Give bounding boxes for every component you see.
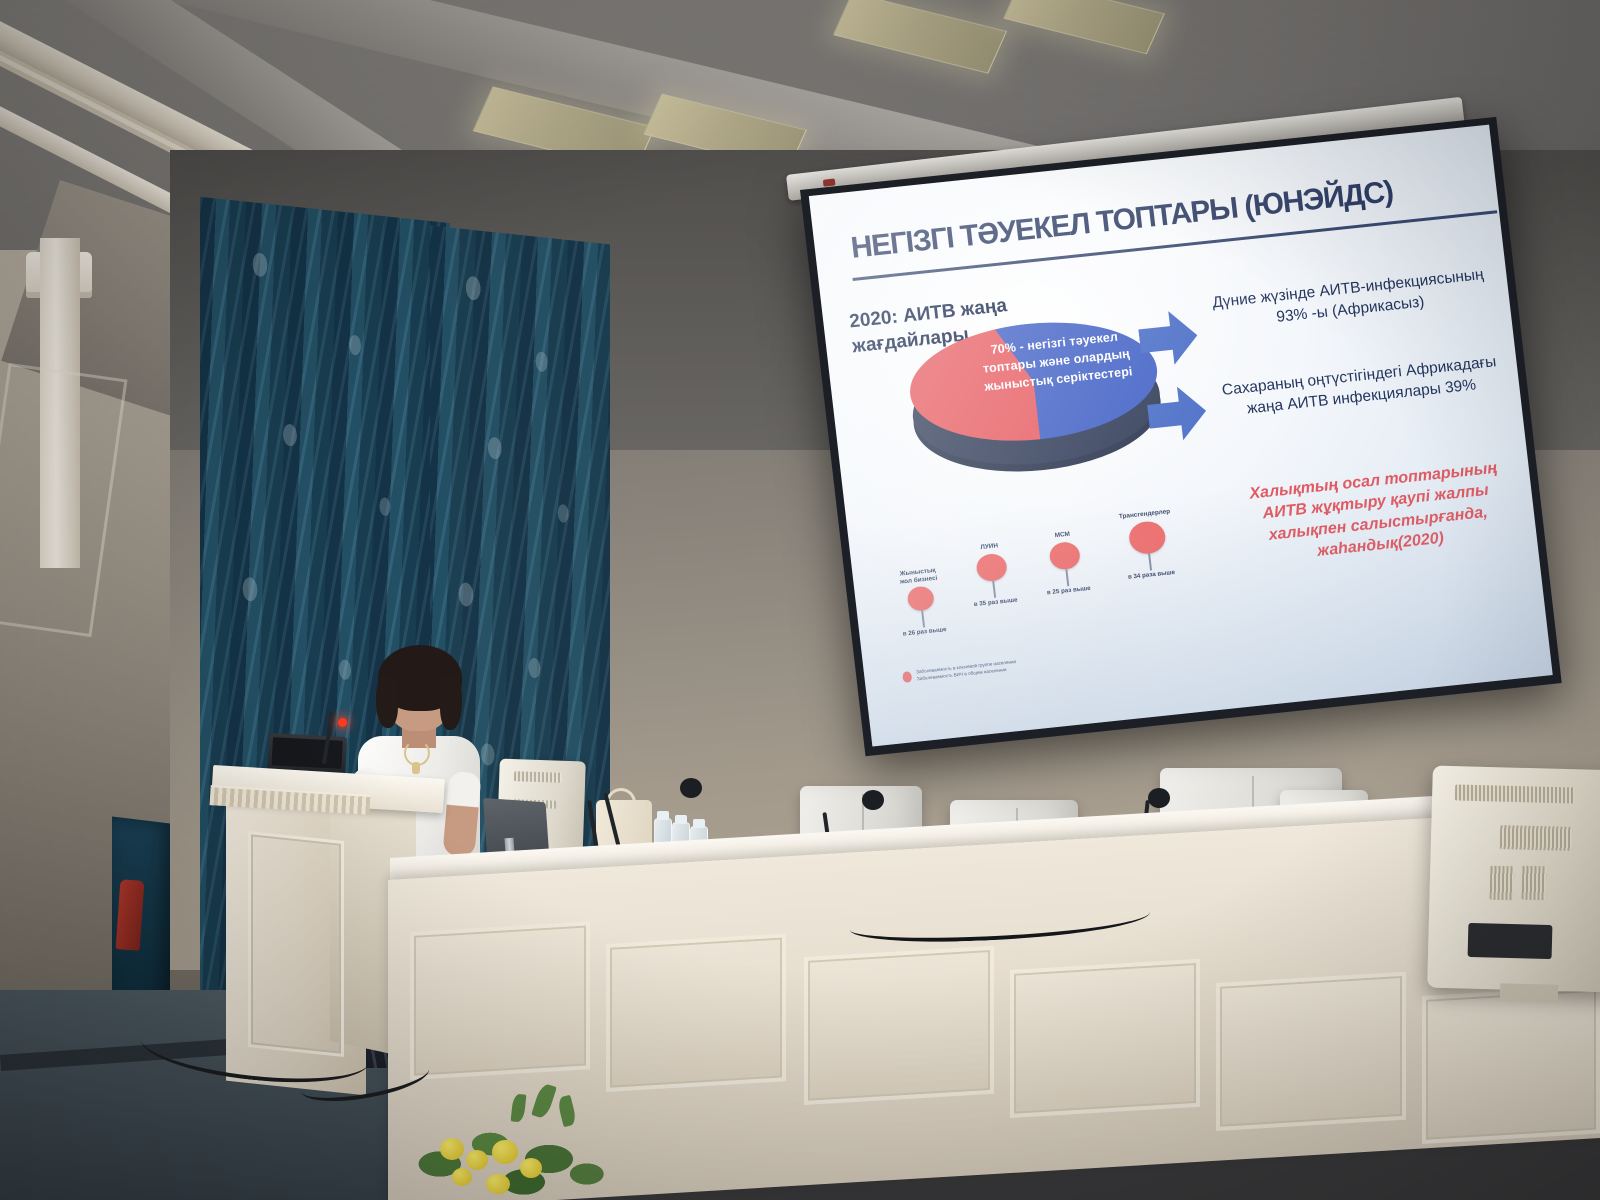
monitor-vent	[514, 771, 562, 783]
monitor-vent	[1490, 866, 1515, 901]
monitor-port-bay	[1468, 923, 1553, 959]
yellow-flower	[520, 1158, 542, 1178]
risk-group-stem	[1066, 569, 1069, 586]
legend-marker-icon	[902, 671, 912, 683]
fire-extinguisher	[116, 879, 145, 951]
yellow-flower	[452, 1168, 472, 1186]
table-panel	[1422, 985, 1600, 1144]
microphone-head	[862, 790, 884, 810]
slide-title: НЕГІЗГІ ТӘУЕКЕЛ ТОПТАРЫ (ЮНЭЙДС)	[849, 165, 1489, 266]
projection-screen-surface: НЕГІЗГІ ТӘУЕКЕЛ ТОПТАРЫ (ЮНЭЙДС) 2020: А…	[809, 125, 1553, 747]
table-panel	[804, 946, 994, 1105]
yellow-flower	[466, 1150, 488, 1170]
risk-group-circle-icon	[906, 586, 935, 613]
projection-screen: НЕГІЗГІ ТӘУЕКЕЛ ТОПТАРЫ (ЮНЭЙДС) 2020: А…	[800, 117, 1562, 756]
risk-group-stem	[922, 611, 925, 628]
monitor-vent	[1500, 825, 1573, 851]
table-panel	[1216, 972, 1406, 1131]
risk-group-item: МСМ в 25 раз выше	[1029, 528, 1102, 597]
table-panel	[1010, 959, 1200, 1118]
slide-bullet-one: Дүние жүзінде АИТВ-инфекциясының 93% -ы …	[1205, 263, 1494, 335]
pie-chart: 70% - негізгі тәуекел топтары және олард…	[904, 311, 1168, 486]
risk-group-label: Трансгендерлер	[1103, 506, 1185, 522]
yellow-flower	[486, 1174, 510, 1194]
table-panel	[410, 921, 590, 1080]
risk-group-stem	[1148, 553, 1151, 570]
slide-bullet-two: Сахараның оңтүстігіндегі Африкадағы жаңа…	[1219, 351, 1502, 423]
speaker-pendant	[412, 762, 420, 774]
yellow-flower	[492, 1140, 518, 1164]
laptop-screen	[272, 737, 343, 769]
bottle-cap	[675, 815, 687, 824]
risk-group-item: Трансгендерлер в 34 раза выше	[1103, 506, 1192, 582]
bottle-cap	[657, 811, 669, 820]
risk-group-row: Жыныстық жол бизнесі в 26 раз выше ЛУИН …	[873, 508, 1226, 675]
risk-group-circle-icon	[975, 552, 1008, 582]
risk-group-label: Жыныстық жол бизнесі	[883, 565, 954, 588]
microphone-head	[680, 778, 702, 798]
microphone-led-icon	[338, 718, 347, 727]
speaker-hair-right	[440, 676, 462, 730]
monitor-vent	[1455, 784, 1575, 803]
monitor-stand	[1500, 983, 1558, 1003]
risk-group-circle-icon	[1127, 519, 1166, 555]
risk-group-item: ЛУИН в 35 раз выше	[956, 540, 1029, 609]
yellow-flower	[440, 1138, 464, 1160]
risk-group-item: Жыныстық жол бизнесі в 26 раз выше	[883, 565, 960, 639]
presentation-slide: НЕГІЗГІ ТӘУЕКЕЛ ТОПТАРЫ (ЮНЭЙДС) 2020: А…	[809, 125, 1553, 747]
monitor-vent	[1522, 866, 1547, 901]
microphone-head	[1148, 788, 1170, 808]
table-panel	[606, 933, 786, 1092]
speaker-hair-left	[376, 676, 398, 728]
bottle-cap	[693, 819, 705, 828]
risk-group-label: ЛУИН	[956, 540, 1023, 555]
slide-red-note: Халықтың осал топтарының АИТВ жұқтыру қа…	[1237, 457, 1517, 571]
risk-group-circle-icon	[1048, 541, 1081, 571]
risk-group-stem	[993, 581, 996, 598]
risk-group-label: МСМ	[1029, 528, 1096, 543]
conference-hall-photo: НЕГІЗГІ ТӘУЕКЕЛ ТОПТАРЫ (ЮНЭЙДС) 2020: А…	[0, 0, 1600, 1200]
